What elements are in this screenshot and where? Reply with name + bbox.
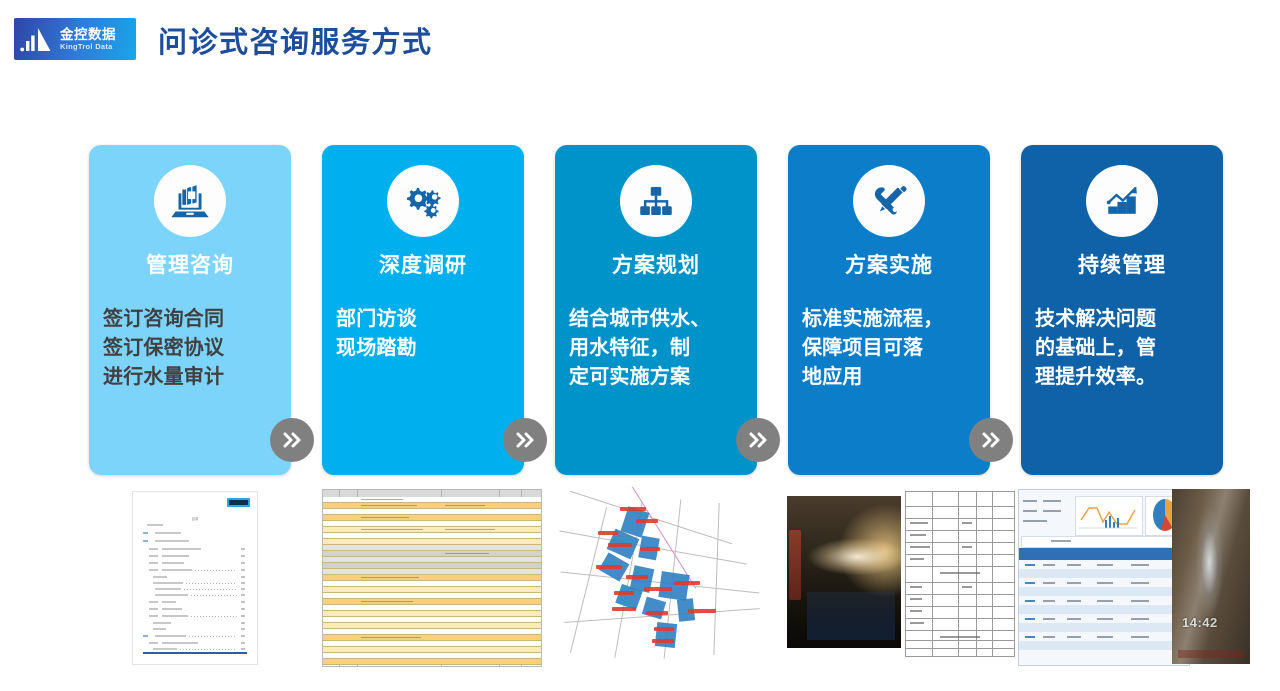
flow-step-title-4: 方案实施 bbox=[788, 249, 990, 279]
flow-arrow-1 bbox=[270, 418, 314, 462]
flow-step-card-3[interactable]: 方案规划 结合城市供水、 用水特征，制 定可实施方案 bbox=[555, 145, 757, 475]
org-chart-icon bbox=[620, 165, 692, 237]
flow-step-title-2: 深度调研 bbox=[322, 249, 524, 279]
logo-english-name: KingTrol Data bbox=[60, 42, 116, 52]
flow-step-body-2: 部门访谈 现场踏勘 bbox=[336, 305, 514, 363]
growth-chart-arrow-icon bbox=[1086, 165, 1158, 237]
flow-step-card-2[interactable]: 深度调研 部门访谈 现场踏勘 bbox=[322, 145, 524, 475]
document-stamp-icon bbox=[227, 498, 250, 507]
flow-arrow-2 bbox=[503, 418, 547, 462]
flow-step-card-4[interactable]: 方案实施 标准实施流程， 保障项目可落 地应用 bbox=[788, 145, 990, 475]
double-chevron-right-icon bbox=[746, 428, 770, 452]
flow-step-body-1: 签订咨询合同 签订保密协议 进行水量审计 bbox=[103, 305, 281, 392]
page-header: 金控数据 KingTrol Data 问诊式咨询服务方式 bbox=[0, 0, 1280, 78]
gis-pipe-network-map-thumbnail[interactable] bbox=[548, 487, 780, 667]
wrench-screwdriver-icon bbox=[853, 165, 925, 237]
flow-step-body-4: 标准实施流程， 保障项目可落 地应用 bbox=[802, 305, 980, 392]
flow-step-body-3: 结合城市供水、 用水特征，制 定可实施方案 bbox=[569, 305, 747, 392]
flow-step-body-5: 技术解决问题 的基础上，管 理提升效率。 bbox=[1035, 305, 1213, 392]
line-chart-icon bbox=[1077, 498, 1139, 532]
evidence-gallery: 目录 bbox=[0, 487, 1280, 667]
page-title: 问诊式咨询服务方式 bbox=[158, 19, 433, 61]
report-document-thumbnail[interactable]: 目录 bbox=[100, 487, 332, 667]
flow-step-title-1: 管理咨询 bbox=[89, 249, 291, 279]
company-logo: 金控数据 KingTrol Data bbox=[14, 18, 136, 60]
spreadsheet-thumbnail[interactable] bbox=[310, 487, 550, 667]
bar-chart-sail-icon bbox=[19, 24, 59, 54]
flow-arrow-4 bbox=[969, 418, 1013, 462]
flow-step-card-1[interactable]: 管理咨询 签订咨询合同 签订保密协议 进行水量审计 bbox=[89, 145, 291, 475]
double-chevron-right-icon bbox=[513, 428, 537, 452]
flow-arrow-3 bbox=[736, 418, 780, 462]
logo-chinese-name: 金控数据 bbox=[60, 27, 116, 42]
photo-timestamp: 14:42 bbox=[1182, 615, 1218, 630]
double-chevron-right-icon bbox=[280, 428, 304, 452]
dashboard-and-excavation-photo-thumbnail[interactable]: 14:42 bbox=[1018, 487, 1250, 667]
flow-step-title-3: 方案规划 bbox=[555, 249, 757, 279]
double-chevron-right-icon bbox=[979, 428, 1003, 452]
field-survey-photo-thumbnail[interactable] bbox=[783, 487, 1015, 667]
flow-step-title-5: 持续管理 bbox=[1021, 249, 1223, 279]
gears-icon bbox=[387, 165, 459, 237]
process-flow: 管理咨询 签订咨询合同 签订保密协议 进行水量审计 bbox=[89, 145, 1194, 475]
laptop-books-icon bbox=[154, 165, 226, 237]
flow-step-card-5[interactable]: 持续管理 技术解决问题 的基础上，管 理提升效率。 bbox=[1021, 145, 1223, 475]
